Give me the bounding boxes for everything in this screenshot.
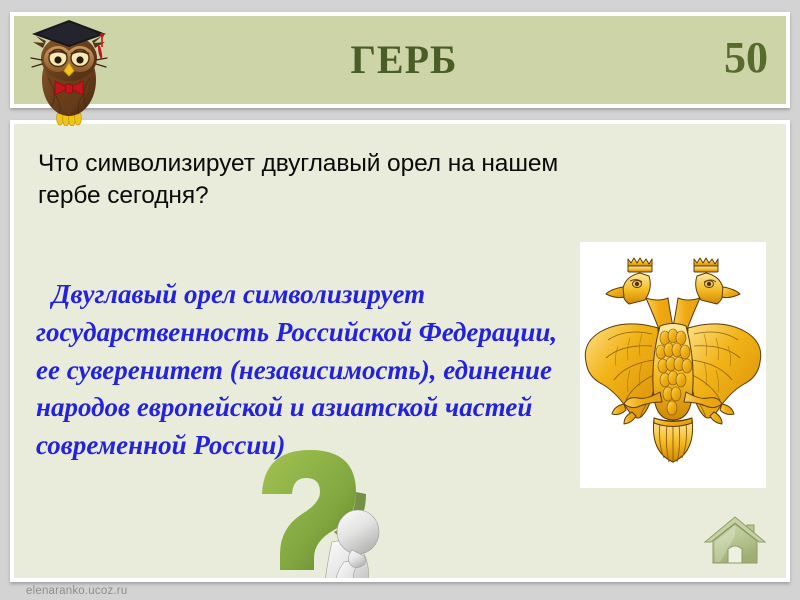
home-button[interactable] (702, 512, 768, 568)
question-mark-thinker-icon (166, 446, 496, 582)
header-bar: ГЕРБ 50 (10, 12, 790, 108)
content-panel: Что символизирует двуглавый орел на наше… (10, 120, 790, 582)
answer-text: Двуглавый орел символизирует государстве… (36, 276, 576, 465)
owl-graduate-icon (24, 8, 116, 126)
watermark: elenaranko.ucoz.ru (26, 585, 127, 597)
double-headed-eagle-icon (580, 242, 766, 488)
page-title: ГЕРБ (14, 16, 794, 104)
quiz-slide: ГЕРБ 50 (0, 0, 800, 600)
score-value: 50 (724, 32, 768, 83)
question-text: Что символизирует двуглавый орел на наше… (38, 148, 598, 213)
home-icon (705, 517, 765, 563)
